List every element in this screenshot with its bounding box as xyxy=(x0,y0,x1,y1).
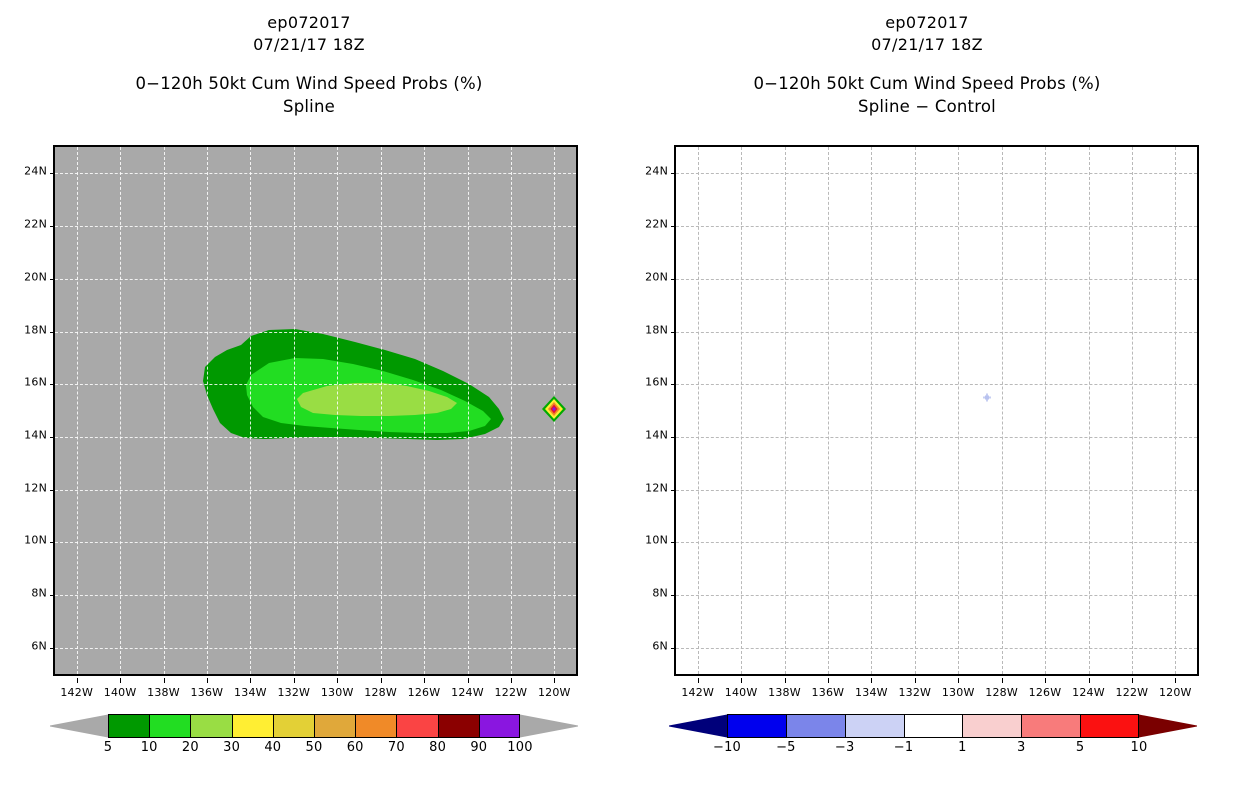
gridline-h-20n-diff xyxy=(676,279,1197,280)
cblabel-50: 50 xyxy=(306,740,323,755)
right-panel-titles: ep072017 07/21/17 18Z 0−120h 50kt Cum Wi… xyxy=(618,0,1236,118)
ytick-16n xyxy=(50,384,55,385)
ylabel-24n-diff: 24N xyxy=(624,165,668,178)
xtick-130w-diff xyxy=(958,678,959,683)
xtick-140w xyxy=(120,678,121,683)
colorbar-probability-labels: 5 10 20 30 40 50 60 70 80 90 100 xyxy=(108,740,520,758)
colorbar-diff-segment-neg3 xyxy=(845,714,904,738)
ytick-14n xyxy=(50,437,55,438)
colorbar-segment-5 xyxy=(108,714,149,738)
cblabel-30: 30 xyxy=(223,740,240,755)
ylabel-22n: 22N xyxy=(3,218,47,231)
xtick-142w xyxy=(77,678,78,683)
gridline-h-10n-diff xyxy=(676,542,1197,543)
xlabel-142w-diff: 142W xyxy=(681,686,714,699)
ylabel-8n-diff: 8N xyxy=(624,587,668,600)
xtick-124w xyxy=(468,678,469,683)
xtick-134w-diff xyxy=(871,678,872,683)
xlabel-122w-diff: 122W xyxy=(1116,686,1149,699)
gridline-h-14n xyxy=(55,437,576,438)
colorbar-diff-segment-3 xyxy=(1021,714,1080,738)
gridline-h-22n xyxy=(55,226,576,227)
ytick-22n-diff xyxy=(671,226,676,227)
panel-spline: ep072017 07/21/17 18Z 0−120h 50kt Cum Wi… xyxy=(0,0,618,800)
gridline-h-8n xyxy=(55,595,576,596)
left-title: 0−120h 50kt Cum Wind Speed Probs (%) xyxy=(0,72,618,95)
cblabel-80: 80 xyxy=(429,740,446,755)
ylabel-16n-diff: 16N xyxy=(624,376,668,389)
cblabel-60: 60 xyxy=(347,740,364,755)
gridline-h-18n xyxy=(55,332,576,333)
xtick-136w xyxy=(207,678,208,683)
colorbar-segment-50 xyxy=(314,714,355,738)
ytick-20n-diff xyxy=(671,279,676,280)
right-storm-id: ep072017 xyxy=(618,12,1236,34)
storm-marker-icon xyxy=(542,396,566,426)
right-subtitle: Spline − Control xyxy=(618,95,1236,118)
gridline-h-10n xyxy=(55,542,576,543)
colorbar-segment-10 xyxy=(149,714,190,738)
ytick-8n-diff xyxy=(671,595,676,596)
ylabel-20n: 20N xyxy=(3,270,47,283)
gridline-h-6n-diff xyxy=(676,648,1197,649)
ylabel-14n-diff: 14N xyxy=(624,428,668,441)
cblabel-10: 10 xyxy=(141,740,158,755)
colorbar-difference: −10 −5 −3 −1 1 3 5 10 xyxy=(727,714,1139,738)
colorbar-segment-80 xyxy=(438,714,479,738)
xtick-134w xyxy=(250,678,251,683)
xtick-120w-diff xyxy=(1175,678,1176,683)
ytick-24n xyxy=(50,173,55,174)
ytick-10n xyxy=(50,542,55,543)
gridline-h-12n-diff xyxy=(676,490,1197,491)
left-storm-id: ep072017 xyxy=(0,12,618,34)
left-subtitle: Spline xyxy=(0,95,618,118)
xtick-136w-diff xyxy=(828,678,829,683)
xlabel-136w-diff: 136W xyxy=(812,686,845,699)
cblabel-70: 70 xyxy=(388,740,405,755)
xlabel-126w: 126W xyxy=(408,686,441,699)
xtick-124w-diff xyxy=(1089,678,1090,683)
xlabel-132w: 132W xyxy=(277,686,310,699)
cblabel-100: 100 xyxy=(507,740,532,755)
cblabel-diff-neg10: −10 xyxy=(713,740,741,755)
xtick-122w xyxy=(511,678,512,683)
gridline-h-16n-diff xyxy=(676,384,1197,385)
colorbar-diff-right-cap-icon xyxy=(1139,714,1197,738)
map-plot-difference xyxy=(674,145,1199,676)
colorbar-diff-left-cap-icon xyxy=(669,714,727,738)
right-plot-inner xyxy=(676,147,1197,674)
ylabel-14n: 14N xyxy=(3,428,47,441)
xtick-140w-diff xyxy=(741,678,742,683)
right-datetime: 07/21/17 18Z xyxy=(618,34,1236,56)
left-panel-titles: ep072017 07/21/17 18Z 0−120h 50kt Cum Wi… xyxy=(0,0,618,118)
left-plot-inner xyxy=(55,147,576,674)
colorbar-right-cap-icon xyxy=(520,714,578,738)
ytick-22n xyxy=(50,226,55,227)
gridline-h-6n xyxy=(55,648,576,649)
ytick-6n xyxy=(50,648,55,649)
left-datetime: 07/21/17 18Z xyxy=(0,34,618,56)
xlabel-134w: 134W xyxy=(234,686,267,699)
xlabel-120w: 120W xyxy=(538,686,571,699)
ylabel-6n: 6N xyxy=(3,639,47,652)
colorbar-diff-segment-5 xyxy=(1080,714,1139,738)
xtick-122w-diff xyxy=(1132,678,1133,683)
xlabel-138w-diff: 138W xyxy=(768,686,801,699)
ylabel-18n-diff: 18N xyxy=(624,323,668,336)
gridline-h-24n-diff xyxy=(676,173,1197,174)
ylabel-8n: 8N xyxy=(3,587,47,600)
xtick-130w xyxy=(337,678,338,683)
ylabel-10n: 10N xyxy=(3,534,47,547)
cblabel-diff-neg3: −3 xyxy=(835,740,855,755)
xlabel-140w-diff: 140W xyxy=(725,686,758,699)
ylabel-24n: 24N xyxy=(3,165,47,178)
cblabel-5: 5 xyxy=(104,740,112,755)
colorbar-probability: 5 10 20 30 40 50 60 70 80 90 100 xyxy=(108,714,520,738)
colorbar-diff-segment-neg1 xyxy=(904,714,963,738)
ytick-18n xyxy=(50,332,55,333)
cblabel-diff-3: 3 xyxy=(1017,740,1025,755)
ytick-12n-diff xyxy=(671,490,676,491)
xlabel-128w-diff: 128W xyxy=(985,686,1018,699)
xlabel-130w-diff: 130W xyxy=(942,686,975,699)
xlabel-122w: 122W xyxy=(495,686,528,699)
gridline-h-22n-diff xyxy=(676,226,1197,227)
ytick-18n-diff xyxy=(671,332,676,333)
ylabel-16n: 16N xyxy=(3,376,47,389)
cblabel-90: 90 xyxy=(470,740,487,755)
difference-marker-icon xyxy=(982,388,992,407)
xtick-132w xyxy=(294,678,295,683)
xlabel-124w: 124W xyxy=(451,686,484,699)
colorbar-left-cap-icon xyxy=(50,714,108,738)
xtick-142w-diff xyxy=(698,678,699,683)
gridline-h-20n xyxy=(55,279,576,280)
colorbar-diff-segment-neg10 xyxy=(727,714,786,738)
xlabel-138w: 138W xyxy=(147,686,180,699)
cblabel-diff-neg5: −5 xyxy=(776,740,796,755)
xlabel-132w-diff: 132W xyxy=(898,686,931,699)
ytick-24n-diff xyxy=(671,173,676,174)
ylabel-18n: 18N xyxy=(3,323,47,336)
colorbar-segment-20 xyxy=(190,714,231,738)
xtick-126w-diff xyxy=(1045,678,1046,683)
colorbar-segment-40 xyxy=(273,714,314,738)
xtick-128w-diff xyxy=(1002,678,1003,683)
xtick-128w xyxy=(381,678,382,683)
colorbar-difference-labels: −10 −5 −3 −1 1 3 5 10 xyxy=(727,740,1139,758)
gridline-h-24n xyxy=(55,173,576,174)
xlabel-124w-diff: 124W xyxy=(1072,686,1105,699)
cblabel-20: 20 xyxy=(182,740,199,755)
xtick-132w-diff xyxy=(915,678,916,683)
gridline-h-16n xyxy=(55,384,576,385)
xtick-126w xyxy=(424,678,425,683)
gridline-h-18n-diff xyxy=(676,332,1197,333)
cblabel-diff-neg1: −1 xyxy=(894,740,914,755)
cblabel-diff-10: 10 xyxy=(1131,740,1148,755)
xtick-120w xyxy=(554,678,555,683)
ylabel-10n-diff: 10N xyxy=(624,534,668,547)
xlabel-128w: 128W xyxy=(364,686,397,699)
xtick-138w xyxy=(164,678,165,683)
xlabel-130w: 130W xyxy=(321,686,354,699)
xlabel-126w-diff: 126W xyxy=(1029,686,1062,699)
ytick-12n xyxy=(50,490,55,491)
cblabel-diff-1: 1 xyxy=(958,740,966,755)
gridline-h-12n xyxy=(55,490,576,491)
ylabel-22n-diff: 22N xyxy=(624,218,668,231)
ytick-16n-diff xyxy=(671,384,676,385)
ylabel-20n-diff: 20N xyxy=(624,270,668,283)
gridline-h-8n-diff xyxy=(676,595,1197,596)
colorbar-segment-70 xyxy=(396,714,437,738)
colorbar-segment-60 xyxy=(355,714,396,738)
xtick-138w-diff xyxy=(785,678,786,683)
panel-spline-minus-control: ep072017 07/21/17 18Z 0−120h 50kt Cum Wi… xyxy=(618,0,1236,800)
map-plot-spline xyxy=(53,145,578,676)
xlabel-120w-diff: 120W xyxy=(1159,686,1192,699)
cblabel-diff-5: 5 xyxy=(1076,740,1084,755)
gridline-h-14n-diff xyxy=(676,437,1197,438)
xlabel-134w-diff: 134W xyxy=(855,686,888,699)
ytick-20n xyxy=(50,279,55,280)
xlabel-140w: 140W xyxy=(104,686,137,699)
ytick-14n-diff xyxy=(671,437,676,438)
ytick-10n-diff xyxy=(671,542,676,543)
cblabel-40: 40 xyxy=(264,740,281,755)
ylabel-12n: 12N xyxy=(3,481,47,494)
colorbar-diff-segment-neg5 xyxy=(786,714,845,738)
right-title: 0−120h 50kt Cum Wind Speed Probs (%) xyxy=(618,72,1236,95)
colorbar-diff-segment-1 xyxy=(962,714,1021,738)
colorbar-segment-30 xyxy=(232,714,273,738)
colorbar-segment-90 xyxy=(479,714,520,738)
ytick-8n xyxy=(50,595,55,596)
ytick-6n-diff xyxy=(671,648,676,649)
xlabel-142w: 142W xyxy=(60,686,93,699)
ylabel-12n-diff: 12N xyxy=(624,481,668,494)
xlabel-136w: 136W xyxy=(191,686,224,699)
ylabel-6n-diff: 6N xyxy=(624,639,668,652)
